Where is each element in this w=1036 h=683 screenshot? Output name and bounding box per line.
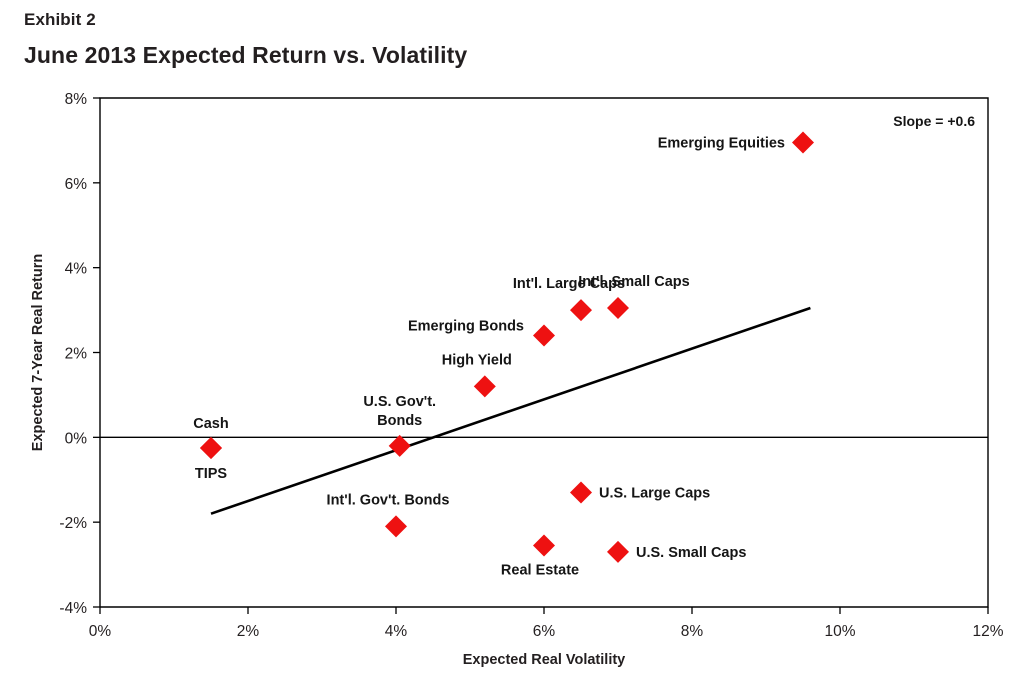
data-point-label: Int'l. Small Caps (578, 274, 689, 290)
x-tick-label: 6% (533, 623, 556, 640)
axis-tick-labels: -4%-2%0%2%4%6%8%0%2%4%6%8%10%12% (59, 91, 1003, 640)
data-point-label: Emerging Equities (658, 136, 785, 152)
trend-line (211, 308, 810, 514)
data-point-marker[interactable] (607, 297, 629, 319)
data-point-labels: CashTIPSU.S. Gov't.BondsInt'l. Gov't. Bo… (193, 136, 785, 579)
data-point-marker[interactable] (607, 541, 629, 563)
x-tick-label: 4% (385, 623, 408, 640)
scatter-chart-svg: -4%-2%0%2%4%6%8%0%2%4%6%8%10%12% Expecte… (0, 0, 1036, 683)
data-point-marker[interactable] (474, 375, 496, 397)
data-point-label: High Yield (442, 352, 512, 368)
chart-page: Exhibit 2 June 2013 Expected Return vs. … (0, 0, 1036, 683)
data-point-label: Cash (193, 416, 228, 432)
x-tick-label: 10% (824, 623, 855, 640)
slope-annotation-label: Slope = +0.6 (893, 113, 975, 129)
regression-trend-line (211, 308, 810, 514)
x-tick-label: 0% (89, 623, 112, 640)
data-point-marker[interactable] (385, 515, 407, 537)
x-tick-label: 8% (681, 623, 704, 640)
data-point-label: U.S. Small Caps (636, 545, 746, 561)
chart-plot-area: -4%-2%0%2%4%6%8%0%2%4%6%8%10%12% Expecte… (0, 0, 1036, 683)
data-point-label: U.S. Gov't.Bonds (363, 394, 436, 429)
data-point-marker[interactable] (533, 325, 555, 347)
y-axis-title: Expected 7-Year Real Return (30, 254, 46, 451)
slope-annotation: Slope = +0.6 (893, 113, 975, 129)
y-tick-label: 4% (65, 261, 88, 278)
data-point-label: U.S. Large Caps (599, 485, 710, 501)
y-tick-label: 8% (65, 91, 88, 108)
axis-ticks (93, 98, 988, 614)
data-point-marker[interactable] (570, 481, 592, 503)
axis-titles: Expected Real VolatilityExpected 7-Year … (30, 254, 625, 668)
data-point-label: TIPS (195, 466, 228, 482)
data-point-marker[interactable] (200, 437, 222, 459)
data-point-marker[interactable] (533, 534, 555, 556)
data-point-marker[interactable] (792, 132, 814, 154)
y-tick-label: -2% (59, 515, 87, 532)
data-point-label: Int'l. Gov't. Bonds (327, 492, 450, 508)
y-tick-label: 6% (65, 176, 88, 193)
x-tick-label: 12% (972, 623, 1003, 640)
plot-frame (100, 98, 988, 607)
data-point-label: Emerging Bonds (408, 319, 524, 335)
data-point-label: Real Estate (501, 562, 579, 578)
plot-border (100, 98, 988, 607)
x-tick-label: 2% (237, 623, 260, 640)
data-points (200, 132, 814, 563)
x-axis-title: Expected Real Volatility (463, 652, 626, 668)
y-tick-label: 2% (65, 346, 88, 363)
y-tick-label: 0% (65, 430, 88, 447)
y-tick-label: -4% (59, 600, 87, 617)
data-point-marker[interactable] (570, 299, 592, 321)
data-point-marker[interactable] (389, 435, 411, 457)
